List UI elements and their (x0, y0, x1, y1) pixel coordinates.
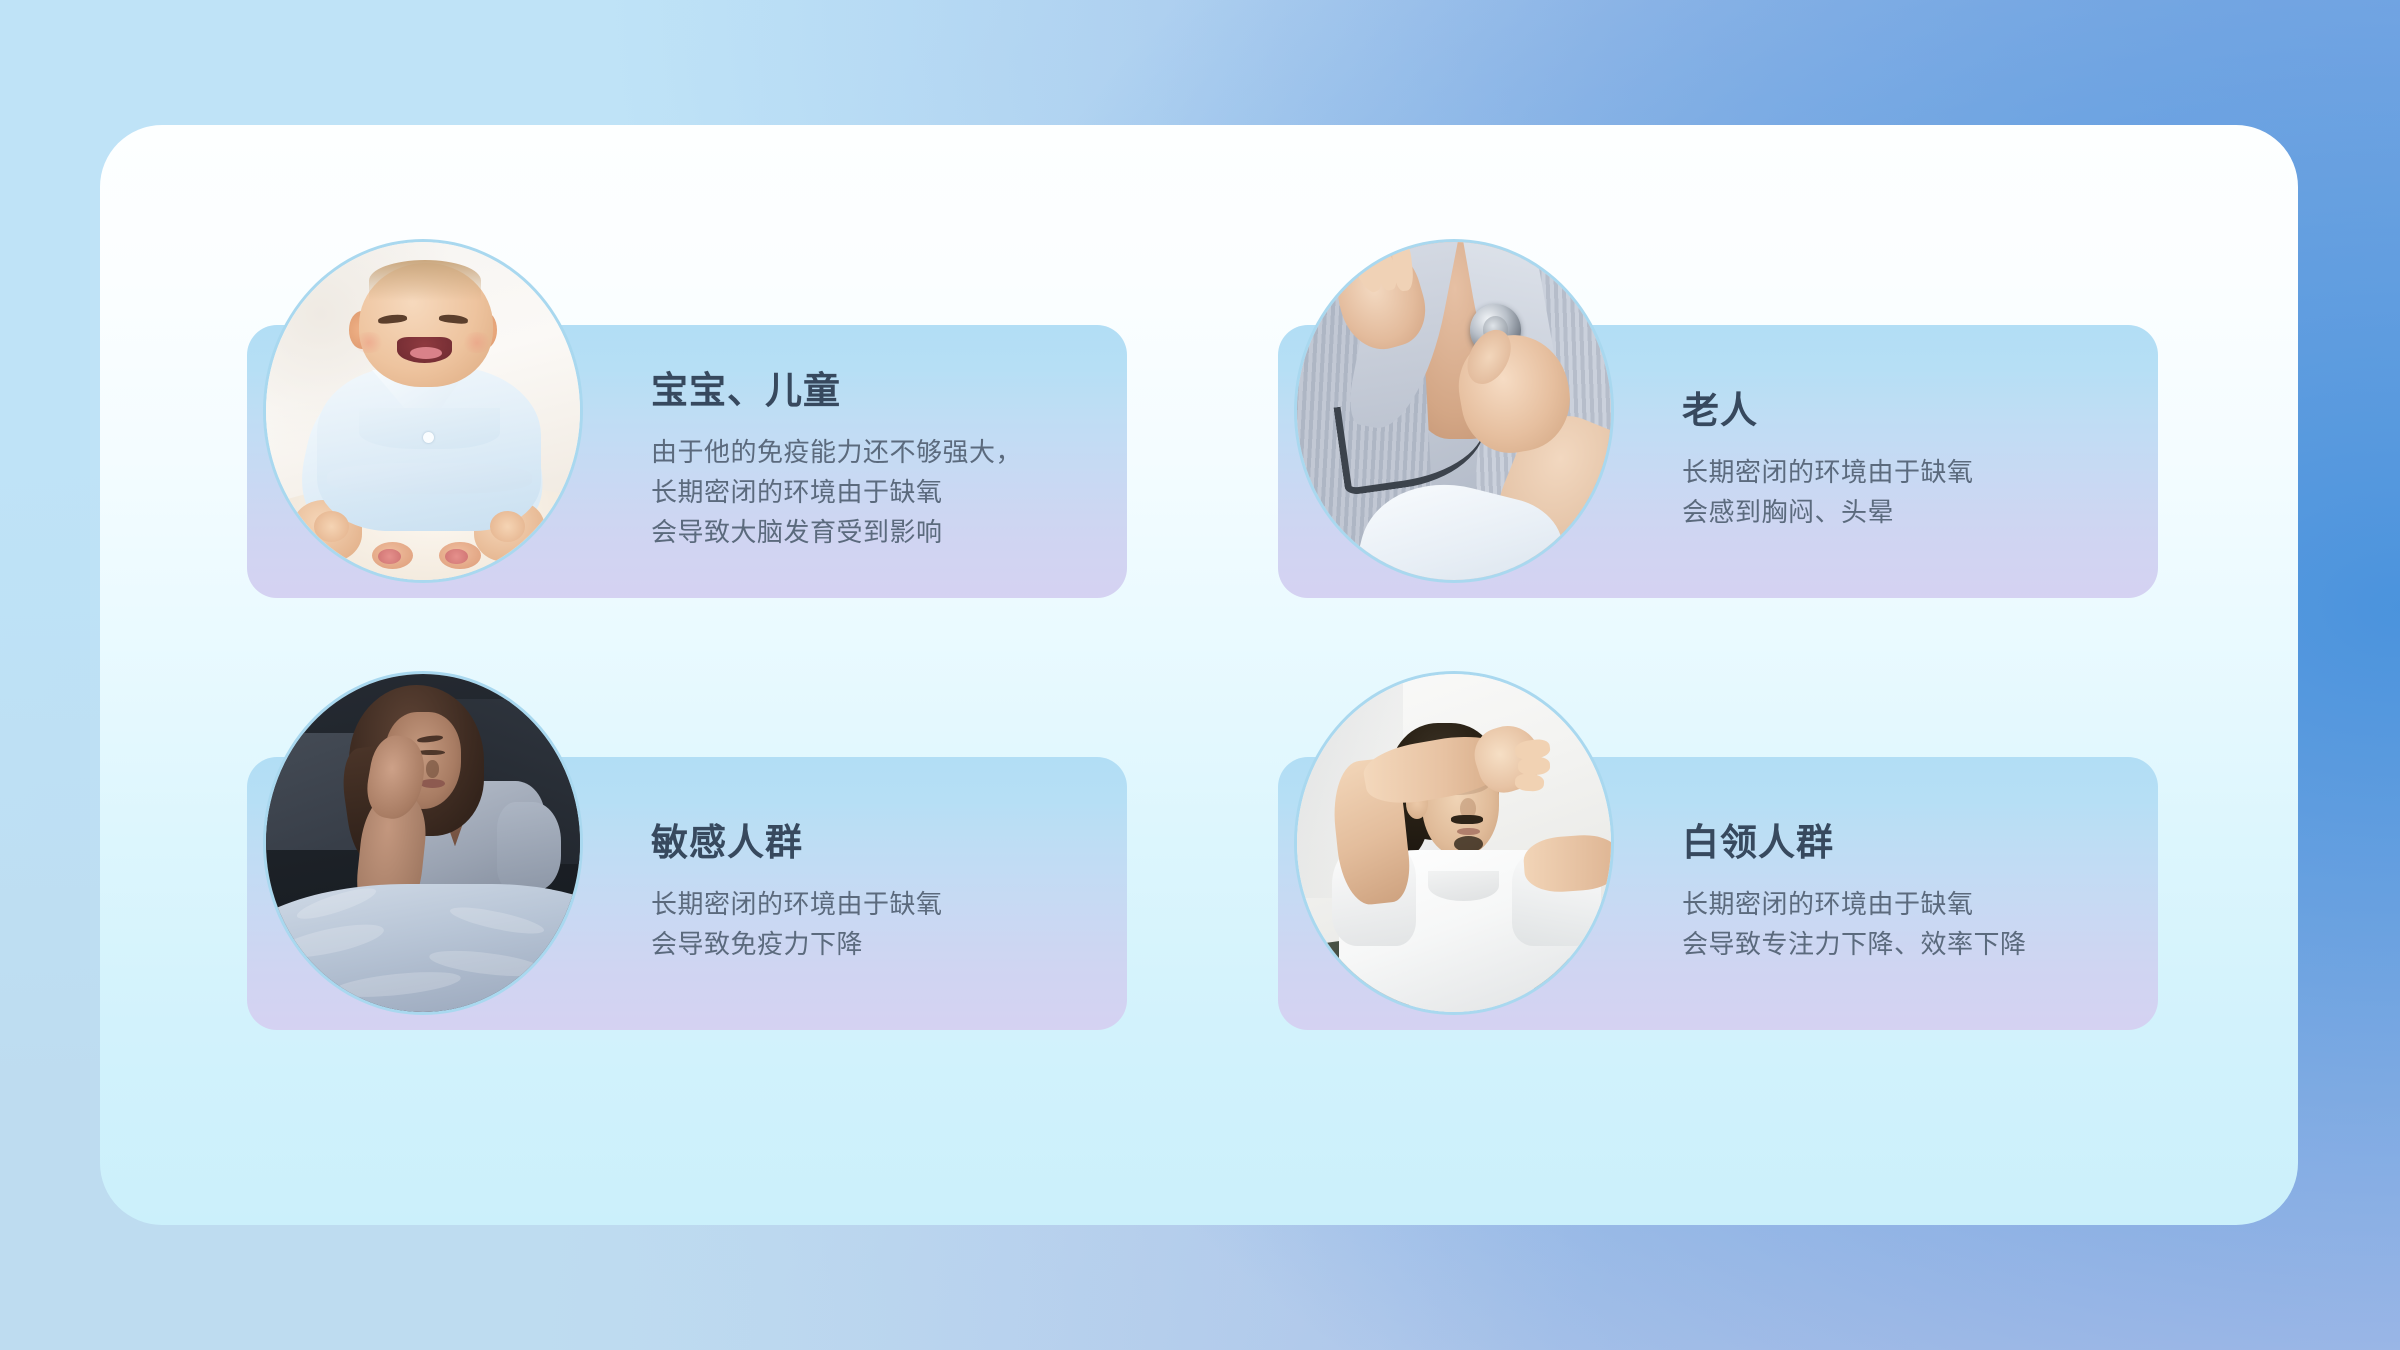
description-line: 长期密闭的环境由于缺氧 (651, 884, 943, 924)
persona-title-office: 白领人群 (1682, 823, 2027, 864)
description-line: 会导致大脑发育受到影响 (651, 512, 1022, 552)
persona-card-office[interactable]: 白领人群 长期密闭的环境由于缺氧 会导致专注力下降、效率下降 (1278, 757, 2158, 1030)
persona-description-elderly: 长期密闭的环境由于缺氧 会感到胸闷、头晕 (1682, 452, 1974, 532)
persona-description-sensitive: 长期密闭的环境由于缺氧 会导致免疫力下降 (651, 884, 943, 964)
persona-title-sensitive: 敏感人群 (651, 823, 943, 864)
man-tired-stretching-photo (1294, 671, 1614, 1015)
persona-description-baby: 由于他的免疫能力还不够强大， 长期密闭的环境由于缺氧 会导致大脑发育受到影响 (651, 432, 1022, 552)
doctor-stethoscope-illustration (1294, 239, 1614, 583)
woman-insomnia-illustration (263, 671, 583, 1015)
description-line: 会感到胸闷、头晕 (1682, 492, 1974, 532)
persona-card-elderly[interactable]: 老人 长期密闭的环境由于缺氧 会感到胸闷、头晕 (1278, 325, 2158, 598)
persona-card-grid: 宝宝、儿童 由于他的免疫能力还不够强大， 长期密闭的环境由于缺氧 会导致大脑发育… (0, 0, 2400, 1350)
man-stretching-illustration (1294, 671, 1614, 1015)
baby-laughing-illustration (263, 239, 583, 583)
baby-laughing-photo (263, 239, 583, 583)
description-line: 会导致专注力下降、效率下降 (1682, 924, 2027, 964)
doctor-stethoscope-exam-photo (1294, 239, 1614, 583)
persona-title-elderly: 老人 (1682, 391, 1974, 432)
persona-text-block-office: 白领人群 长期密闭的环境由于缺氧 会导致专注力下降、效率下降 (1682, 757, 2027, 1030)
persona-description-office: 长期密闭的环境由于缺氧 会导致专注力下降、效率下降 (1682, 884, 2027, 964)
description-line: 长期密闭的环境由于缺氧 (651, 472, 1022, 512)
persona-title-baby: 宝宝、儿童 (651, 371, 1022, 412)
persona-text-block-sensitive: 敏感人群 长期密闭的环境由于缺氧 会导致免疫力下降 (651, 757, 943, 1030)
description-line: 会导致免疫力下降 (651, 924, 943, 964)
persona-text-block-baby: 宝宝、儿童 由于他的免疫能力还不够强大， 长期密闭的环境由于缺氧 会导致大脑发育… (651, 325, 1022, 598)
persona-text-block-elderly: 老人 长期密闭的环境由于缺氧 会感到胸闷、头晕 (1682, 325, 1974, 598)
description-line: 长期密闭的环境由于缺氧 (1682, 884, 2027, 924)
description-line: 由于他的免疫能力还不够强大， (651, 432, 1022, 472)
description-line: 长期密闭的环境由于缺氧 (1682, 452, 1974, 492)
persona-card-baby[interactable]: 宝宝、儿童 由于他的免疫能力还不够强大， 长期密闭的环境由于缺氧 会导致大脑发育… (247, 325, 1127, 598)
woman-insomnia-headache-photo (263, 671, 583, 1015)
persona-card-sensitive[interactable]: 敏感人群 长期密闭的环境由于缺氧 会导致免疫力下降 (247, 757, 1127, 1030)
